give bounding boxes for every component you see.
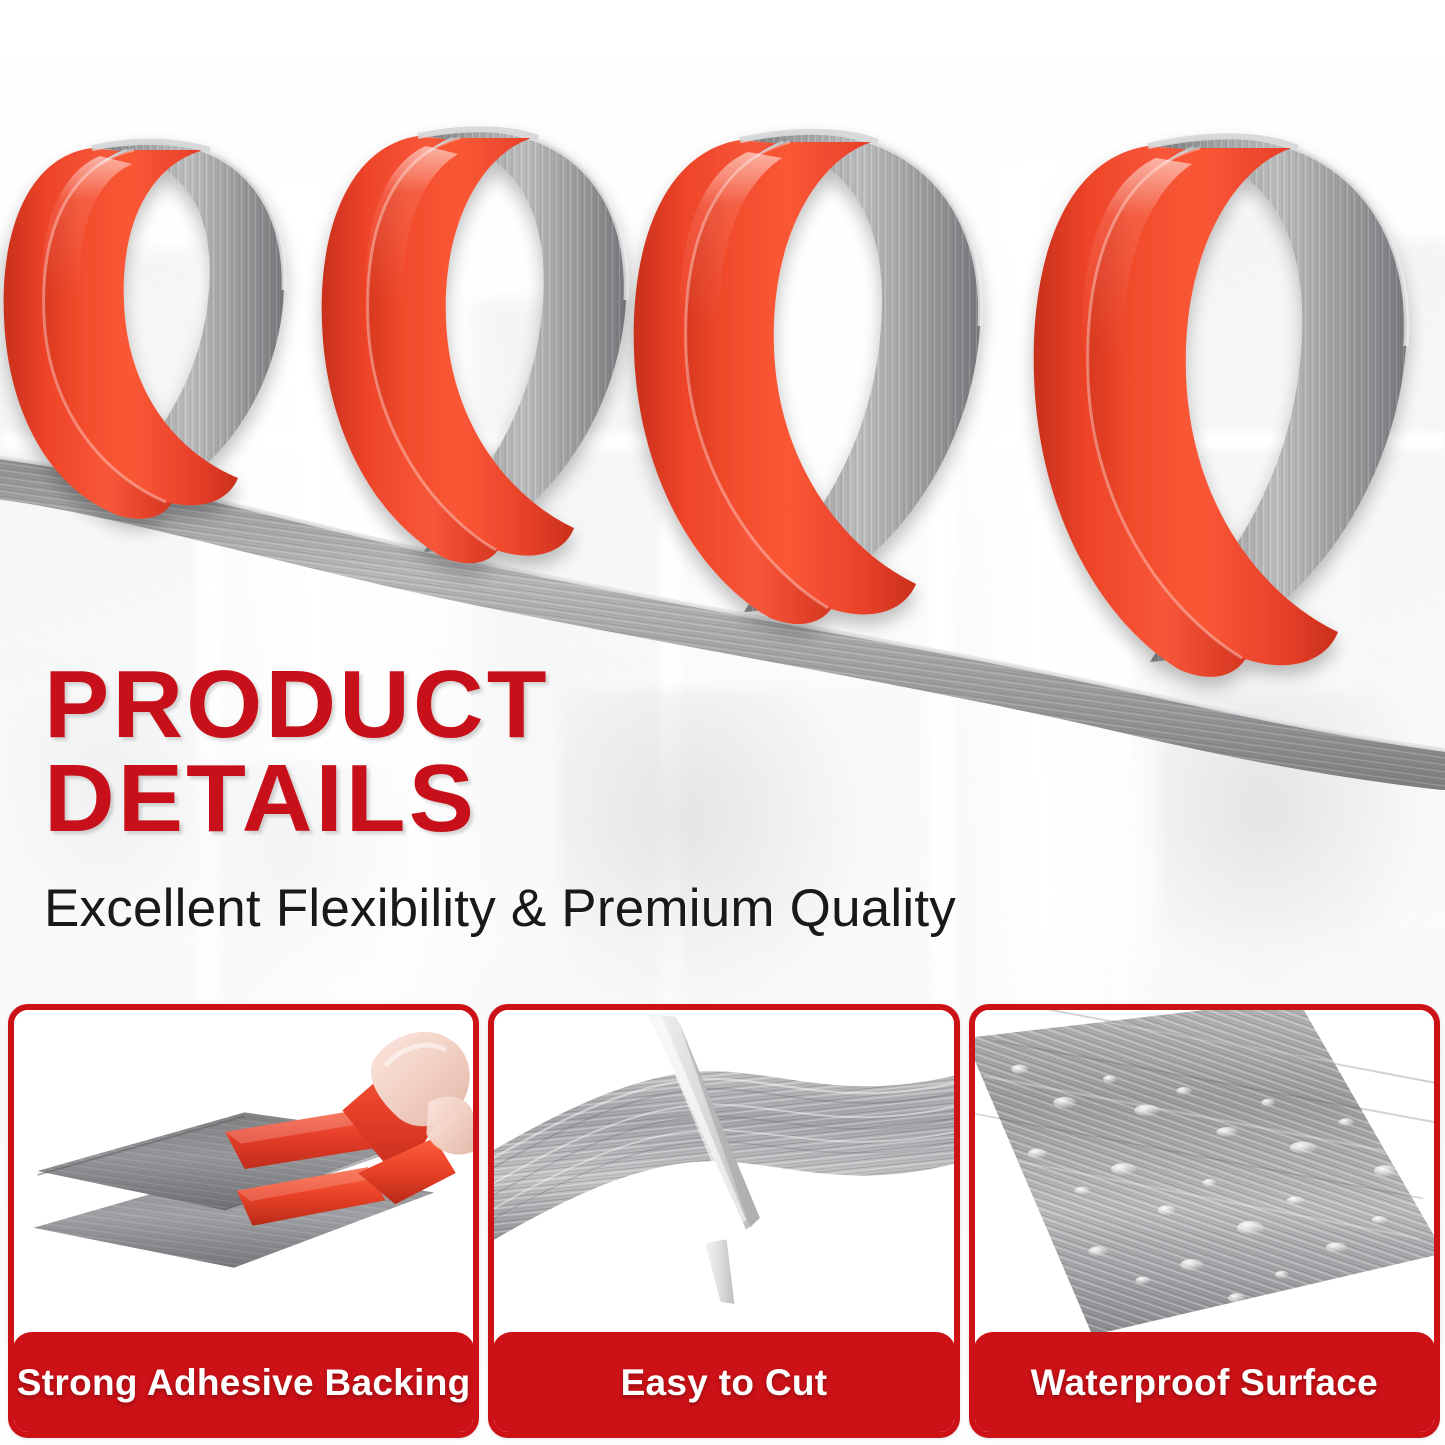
feature-caption-3: Waterproof Surface xyxy=(973,1332,1436,1434)
coil-loop-3 xyxy=(634,132,981,624)
feature-caption-2: Easy to Cut xyxy=(492,1332,955,1434)
adhesive-backing-photo xyxy=(14,1010,473,1334)
feature-panel-easy-to-cut[interactable]: Easy to Cut xyxy=(488,1004,959,1438)
page-subtitle: Excellent Flexibility & Premium Quality xyxy=(44,878,1164,939)
coil-loop-4 xyxy=(1034,136,1407,677)
easy-to-cut-photo xyxy=(494,1010,953,1334)
page-title-line2: DETAILS xyxy=(44,754,1186,844)
feature-caption-1: Strong Adhesive Backing xyxy=(12,1332,475,1434)
feature-panel-row: Strong Adhesive Backing xyxy=(8,1004,1440,1438)
waterproof-surface-photo xyxy=(975,1010,1434,1334)
coil-loop-2 xyxy=(322,129,627,563)
page-title-line1: PRODUCT xyxy=(44,660,1186,750)
feature-panel-adhesive-backing[interactable]: Strong Adhesive Backing xyxy=(8,1004,479,1438)
headline-block: PRODUCT DETAILS Excellent Flexibility & … xyxy=(44,660,1164,939)
product-details-graphic: PRODUCT DETAILS Excellent Flexibility & … xyxy=(0,0,1445,1445)
coil-loop-1 xyxy=(4,140,285,519)
feature-panel-waterproof-surface[interactable]: Waterproof Surface xyxy=(969,1004,1440,1438)
